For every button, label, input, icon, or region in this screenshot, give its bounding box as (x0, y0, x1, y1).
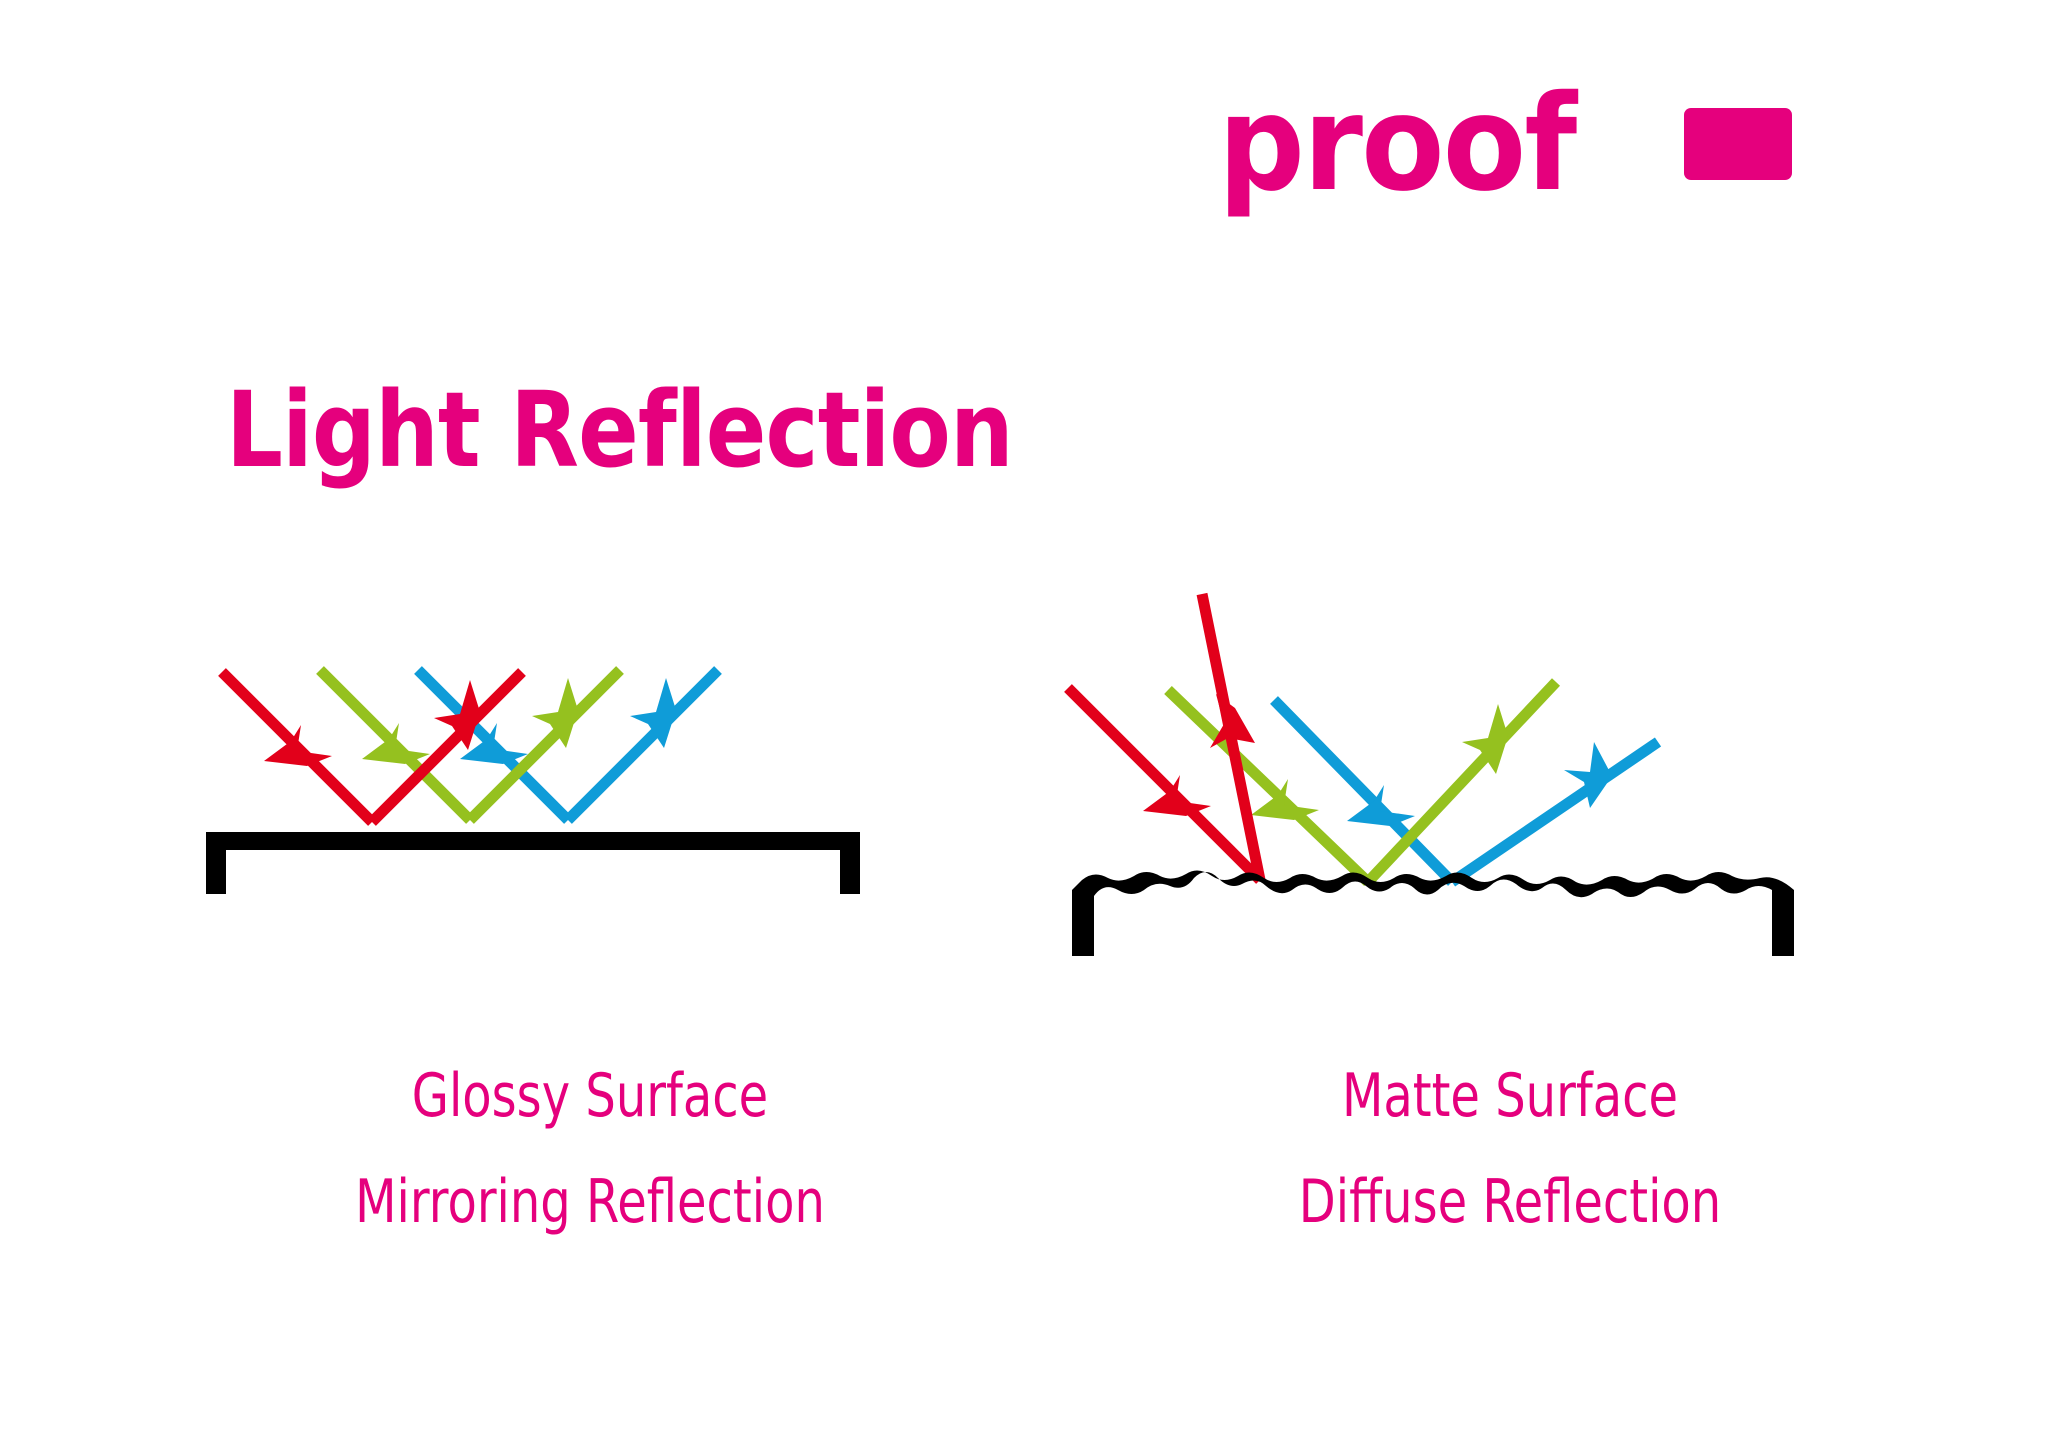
slide-canvas: proof Light Reflection (0, 0, 2048, 1448)
figure-matte-surface: Matte Surface Diffuse Reflection (1060, 560, 1960, 1060)
figure-glossy-caption-line-1: Glossy Surface (238, 1066, 942, 1126)
matte-reflection-diagram (1060, 560, 1960, 1060)
rounded-rectangle-mark-icon (1684, 108, 1792, 180)
figure-matte-caption-line-1: Matte Surface (1150, 1066, 1870, 1126)
figure-glossy-surface: Glossy Surface Mirroring Reflection (150, 560, 1030, 1060)
brand-logo: proof (1218, 78, 1792, 210)
ray-outgoing-green-matte (1368, 682, 1556, 882)
page-title: Light Reflection (226, 372, 1013, 488)
wavy-bracket-surface-icon (1072, 870, 1794, 956)
logo-wordmark: proof (1218, 78, 1575, 210)
figure-glossy-caption-line-2: Mirroring Reflection (238, 1172, 942, 1232)
outgoing-rays-matte (1202, 594, 1658, 882)
flat-bracket-surface-icon (206, 832, 860, 894)
glossy-reflection-diagram (150, 560, 1030, 1060)
ray-incoming-blue-matte (1274, 700, 1452, 882)
ray-incoming-green-matte (1168, 690, 1368, 882)
figure-matte-caption-line-2: Diffuse Reflection (1150, 1172, 1870, 1232)
